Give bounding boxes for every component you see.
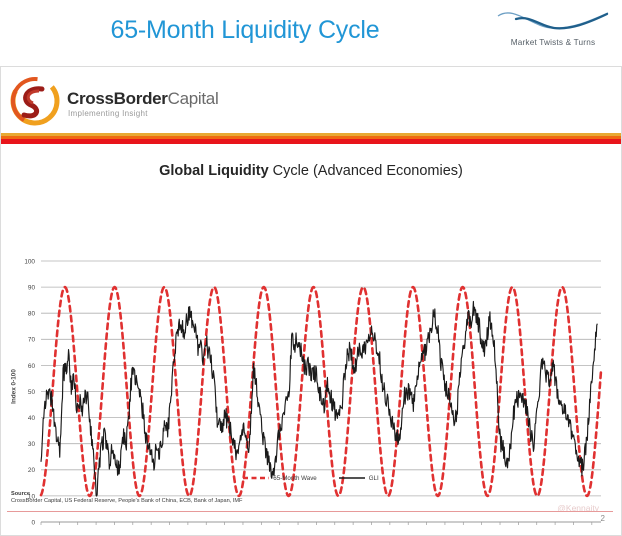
brand-name: CrossBorderCapital [67,89,218,109]
source-text: CrossBorder Capital, US Federal Reserve,… [11,498,451,504]
chart-legend: 65-Month Wave GLI [1,471,621,485]
y-axis-title: Index 0-100 [11,352,18,422]
svg-text:90: 90 [28,285,36,292]
chart-title-bold: Global Liquidity [159,163,269,179]
brand-tagline: Implementing Insight [68,109,148,118]
svg-text:0: 0 [31,519,35,526]
page-title: 65-Month Liquidity Cycle [0,16,490,45]
legend-label-gli: GLI [369,475,379,482]
slide-card: CrossBorderCapital Implementing Insight … [0,66,622,536]
brand-name-light: Capital [168,89,219,108]
svg-text:60: 60 [28,363,36,370]
svg-text:50: 50 [28,389,36,396]
crossborder-spiral-icon [9,75,61,127]
stripe-red [1,139,621,144]
chart-y-tick-labels: 0102030405060708090100 [24,258,35,526]
source-block: Source CrossBorder Capital, US Federal R… [11,491,451,504]
logo-caption: Market Twists & Turns [494,38,612,47]
legend-item-gli: GLI [339,475,379,482]
series-gli [41,301,597,496]
chart-title-normal: Cycle (Advanced Economies) [269,163,463,179]
svg-text:30: 30 [28,441,36,448]
market-twists-logo: Market Twists & Turns [494,5,612,57]
svg-text:70: 70 [28,337,36,344]
brand-name-bold: CrossBorder [67,89,168,108]
source-heading: Source [11,491,451,497]
chart-title: Global Liquidity Cycle (Advanced Economi… [1,163,621,179]
bottom-rule [7,511,613,512]
brand-bar: CrossBorderCapital Implementing Insight [1,67,621,133]
legend-label-wave: 65-Month Wave [273,475,316,482]
svg-text:80: 80 [28,311,36,318]
legend-swatch-solid [339,475,365,481]
wave-swoosh-icon [494,7,612,37]
page-number: 2 [601,514,605,523]
legend-item-wave: 65-Month Wave [243,475,316,482]
legend-swatch-dashed [243,475,269,481]
svg-text:100: 100 [24,258,35,265]
slide-header: 65-Month Liquidity Cycle Market Twists &… [0,0,622,66]
chart-x-tick-marks [41,522,592,525]
svg-text:40: 40 [28,415,36,422]
